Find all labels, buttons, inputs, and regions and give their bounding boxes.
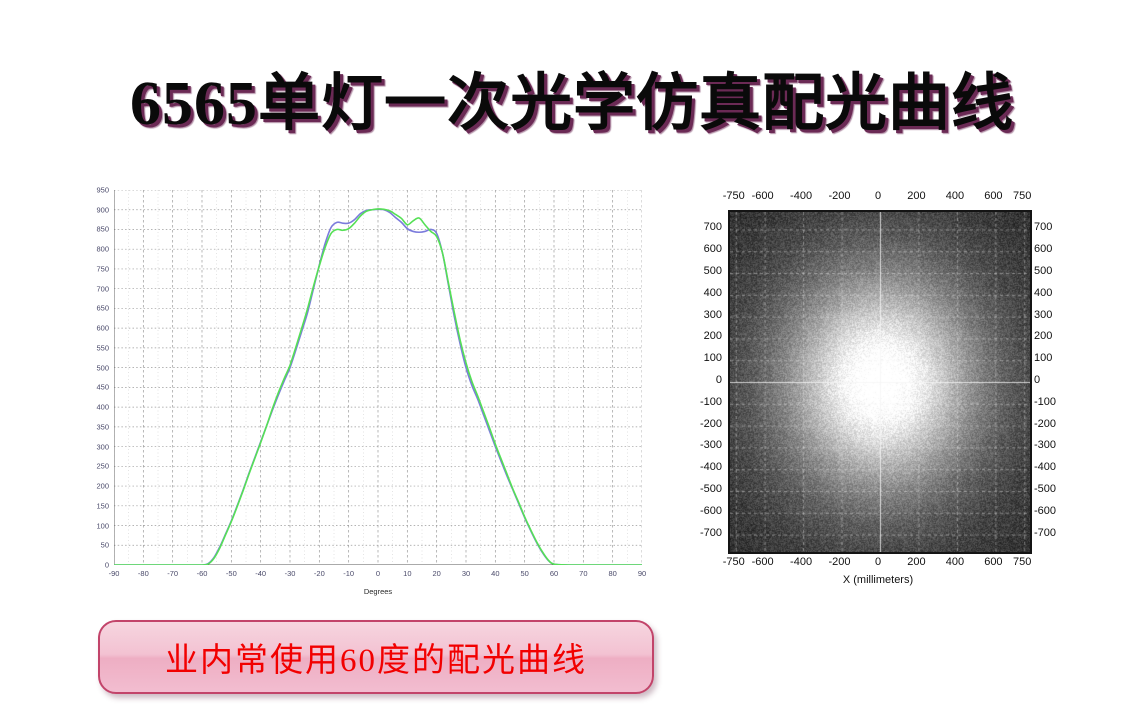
x-tick-label: -30 (285, 569, 296, 578)
map-y-tick-label-left: -700 (700, 527, 722, 539)
map-x-tick-label: -600 (752, 190, 774, 202)
left-chart-x-axis: -90-80-70-60-50-40-30-20-100102030405060… (114, 569, 642, 583)
map-x-tick-label: -400 (790, 190, 812, 202)
map-x-tick-label: 0 (875, 190, 881, 202)
map-y-tick-label-left: 700 (704, 221, 722, 233)
y-tick-label: 900 (96, 205, 109, 214)
map-x-tick-label: 400 (946, 190, 964, 202)
left-chart-x-axis-title: Degrees (114, 587, 642, 596)
map-y-tick-label-left: 200 (704, 330, 722, 342)
illuminance-map-y-axis-left: 7006005004003002001000-100-200-300-400-5… (676, 210, 724, 550)
illuminance-heatmap-canvas (730, 212, 1030, 552)
map-y-tick-label-right: 200 (1034, 330, 1052, 342)
x-tick-label: 60 (550, 569, 558, 578)
map-x-tick-label: 600 (984, 556, 1002, 568)
y-tick-label: 800 (96, 245, 109, 254)
map-y-tick-label-left: -500 (700, 483, 722, 495)
map-x-tick-label: 200 (907, 556, 925, 568)
x-tick-label: -10 (343, 569, 354, 578)
illuminance-map-image (728, 210, 1032, 554)
map-y-tick-label-right: 700 (1034, 221, 1052, 233)
x-tick-label: 80 (608, 569, 616, 578)
y-tick-label: 200 (96, 482, 109, 491)
illuminance-map-x-axis-title: X (millimeters) (728, 574, 1028, 586)
map-x-tick-label: 0 (875, 556, 881, 568)
y-tick-label: 150 (96, 501, 109, 510)
page-title: 6565单灯一次光学仿真配光曲线 (0, 52, 1144, 142)
x-tick-label: 0 (376, 569, 380, 578)
map-x-tick-label: 400 (946, 556, 964, 568)
x-tick-label: -80 (138, 569, 149, 578)
map-y-tick-label-left: 0 (716, 374, 722, 386)
y-tick-label: 400 (96, 403, 109, 412)
illuminance-map-x-axis-top: -750-600-400-2000200400600750 (728, 190, 1028, 206)
x-tick-label: -40 (255, 569, 266, 578)
y-tick-label: 950 (96, 186, 109, 195)
y-tick-label: 350 (96, 422, 109, 431)
left-chart-plot-area (114, 190, 642, 565)
map-y-tick-label-right: -400 (1034, 461, 1056, 473)
map-y-tick-label-left: 400 (704, 287, 722, 299)
map-y-tick-label-right: 400 (1034, 287, 1052, 299)
y-tick-label: 250 (96, 462, 109, 471)
callout-box: 业内常使用60度的配光曲线 (98, 620, 654, 694)
x-tick-label: -60 (197, 569, 208, 578)
map-y-tick-label-left: 600 (704, 243, 722, 255)
y-tick-label: 500 (96, 363, 109, 372)
y-tick-label: 50 (101, 541, 109, 550)
x-tick-label: 40 (491, 569, 499, 578)
illuminance-map-panel: -750-600-400-2000200400600750 7006005004… (676, 182, 1086, 597)
map-x-tick-label: -750 (723, 556, 745, 568)
map-x-tick-label: -600 (752, 556, 774, 568)
y-tick-label: 100 (96, 521, 109, 530)
map-y-tick-label-left: 100 (704, 352, 722, 364)
intensity-distribution-chart: 0501001502002503003504004505005506006507… (76, 182, 648, 597)
illuminance-map-x-axis-bottom: -750-600-400-2000200400600750 (728, 556, 1028, 572)
x-tick-label: 70 (579, 569, 587, 578)
y-tick-label: 700 (96, 284, 109, 293)
map-y-tick-label-right: -100 (1034, 396, 1056, 408)
x-tick-label: -50 (226, 569, 237, 578)
map-y-tick-label-right: 500 (1034, 265, 1052, 277)
map-x-tick-label: -200 (829, 556, 851, 568)
map-y-tick-label-right: 0 (1034, 374, 1040, 386)
left-chart-y-axis: 0501001502002503003504004505005506006507… (76, 182, 112, 597)
y-tick-label: 850 (96, 225, 109, 234)
map-y-tick-label-right: -500 (1034, 483, 1056, 495)
x-tick-label: 20 (432, 569, 440, 578)
x-tick-label: 30 (462, 569, 470, 578)
map-y-tick-label-right: 300 (1034, 309, 1052, 321)
map-y-tick-label-left: -600 (700, 505, 722, 517)
map-y-tick-label-left: -300 (700, 439, 722, 451)
map-y-tick-label-left: -100 (700, 396, 722, 408)
map-y-tick-label-left: -400 (700, 461, 722, 473)
map-y-tick-label-right: 600 (1034, 243, 1052, 255)
map-x-tick-label: 750 (1013, 190, 1031, 202)
y-tick-label: 600 (96, 324, 109, 333)
map-y-tick-label-right: -700 (1034, 527, 1056, 539)
map-x-tick-label: -750 (723, 190, 745, 202)
x-tick-label: -90 (109, 569, 120, 578)
x-tick-label: -70 (167, 569, 178, 578)
x-tick-label: 90 (638, 569, 646, 578)
y-tick-label: 750 (96, 264, 109, 273)
map-x-tick-label: -200 (829, 190, 851, 202)
map-y-tick-label-left: 300 (704, 309, 722, 321)
map-x-tick-label: 600 (984, 190, 1002, 202)
callout-text: 业内常使用60度的配光曲线 (165, 633, 587, 681)
x-tick-label: 10 (403, 569, 411, 578)
x-tick-label: -20 (314, 569, 325, 578)
map-y-tick-label-right: -300 (1034, 439, 1056, 451)
map-y-tick-label-left: 500 (704, 265, 722, 277)
y-tick-label: 650 (96, 304, 109, 313)
map-y-tick-label-right: -200 (1034, 418, 1056, 430)
y-tick-label: 550 (96, 343, 109, 352)
map-y-tick-label-left: -200 (700, 418, 722, 430)
map-x-tick-label: -400 (790, 556, 812, 568)
illuminance-map-y-axis-right: 7006005004003002001000-100-200-300-400-5… (1032, 210, 1084, 550)
y-tick-label: 450 (96, 383, 109, 392)
map-y-tick-label-right: 100 (1034, 352, 1052, 364)
map-x-tick-label: 750 (1013, 556, 1031, 568)
map-x-tick-label: 200 (907, 190, 925, 202)
x-tick-label: 50 (520, 569, 528, 578)
map-y-tick-label-right: -600 (1034, 505, 1056, 517)
intensity-curve-svg (114, 190, 642, 565)
y-tick-label: 300 (96, 442, 109, 451)
